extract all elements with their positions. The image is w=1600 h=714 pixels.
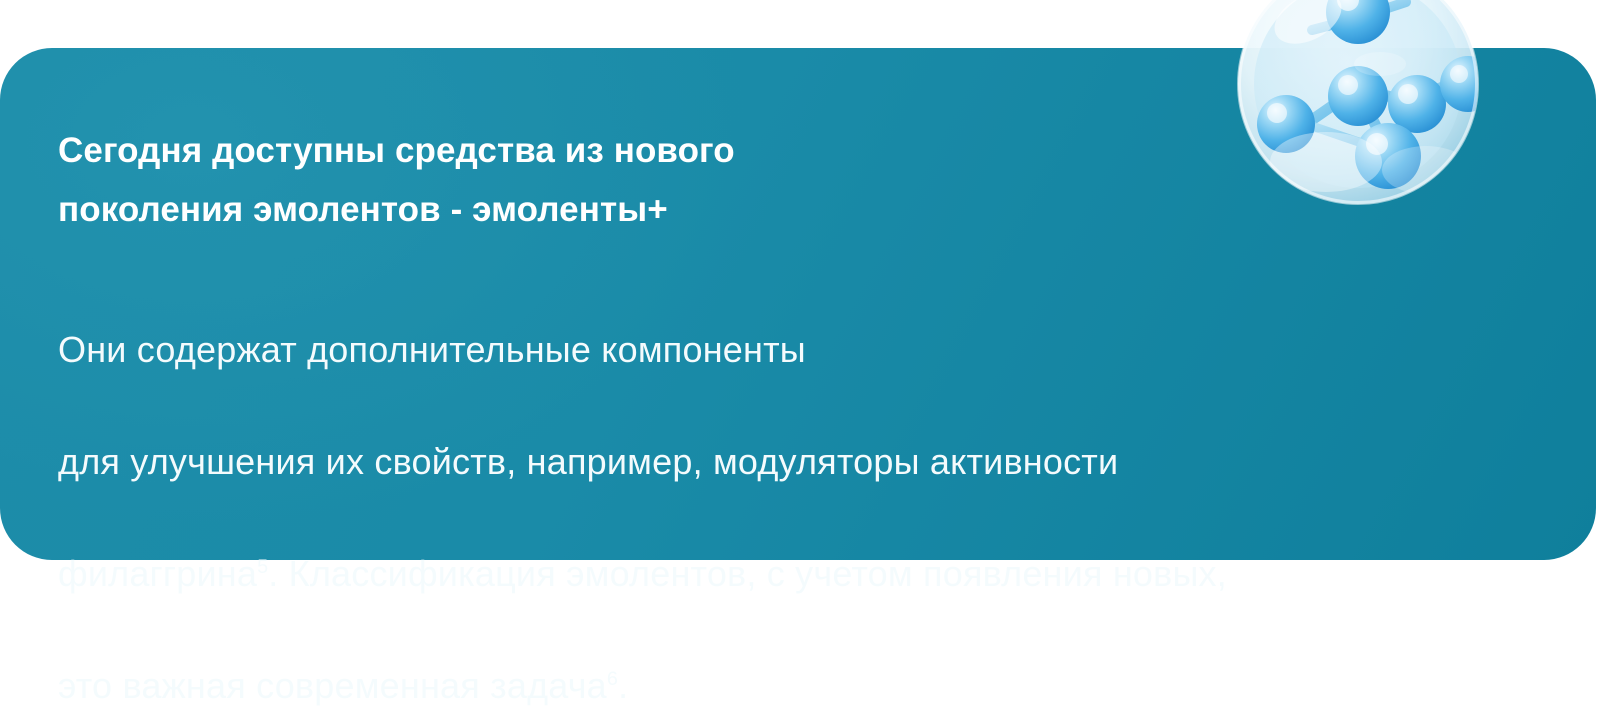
footnote-marker-6: 6 (607, 668, 618, 690)
teal-info-card: Сегодня доступны средства из нового поко… (0, 48, 1596, 560)
card-body-text: Они содержат дополнительные компоненты д… (58, 266, 1458, 714)
body-line-2: для улучшения их свойств, например, моду… (58, 441, 1118, 482)
slide-canvas: Сегодня доступны средства из нового поко… (0, 0, 1600, 573)
footnote-marker-5: 5 (257, 556, 268, 578)
body-line-4-text: это важная современная задача (58, 665, 607, 706)
card-headline: Сегодня доступны средства из нового поко… (58, 121, 1208, 239)
body-line-4-rest: . (618, 665, 628, 706)
body-line-3-text: филаггрина (58, 553, 257, 594)
body-line-1: Они содержат дополнительные компоненты (58, 329, 806, 370)
body-line-3-rest: . Классификация эмолентов, с учетом появ… (268, 553, 1227, 594)
